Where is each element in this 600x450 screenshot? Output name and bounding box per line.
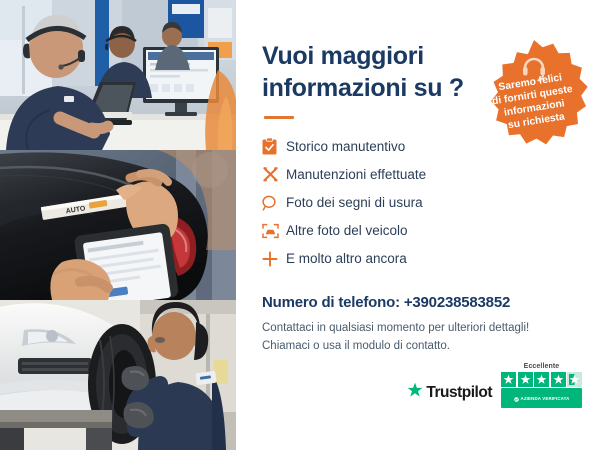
list-item: E molto altro ancora [262,245,580,272]
contact-text: Contattaci in qualsiasi momento per ulte… [262,320,580,356]
phone-number-line[interactable]: Numero di telefono: +390238583852 [262,294,580,311]
clipboard-check-icon [262,137,286,157]
feature-label: Altre foto del veicolo [286,224,408,238]
feature-label: Storico manutentivo [286,140,405,154]
list-item: Altre foto del veicolo [262,217,580,244]
feature-label: Manutenzioni effettuate [286,168,426,182]
page-title: Vuoi maggiori informazioni su ? [262,40,477,104]
call-center-agents-photo [0,0,236,150]
star-icon [534,372,549,387]
trustpilot-star-icon [407,382,423,403]
star-icon [501,372,516,387]
contact-line-2: Chiamaci o usa il modulo di contatto. [262,340,450,352]
photo-column: AUTO [0,0,236,450]
headline-line-1: Vuoi maggiori [262,42,424,70]
trustpilot-name: Trustpilot [426,384,492,402]
star-rating [501,372,582,387]
headline-line-2: informazioni su ? [262,74,464,102]
magnifier-icon [262,193,286,213]
callout-badge: Saremo felici di fornirti queste informa… [476,38,592,154]
feature-label: E molto altro ancora [286,252,407,266]
trustpilot-logo: Trustpilot [407,382,492,408]
rating-label: Eccellente [524,363,560,370]
promo-banner: AUTO [0,0,600,450]
verified-company-badge: AZIENDA VERIFICATA [501,388,582,408]
content-column: Vuoi maggiori informazioni su ? Storico … [236,0,600,450]
list-item: Foto dei segni di usura [262,189,580,216]
headline-divider [264,116,294,119]
check-circle-icon [514,389,519,407]
trustpilot-widget[interactable]: Trustpilot Eccellente [262,363,582,408]
star-icon-half [567,372,582,387]
car-frame-icon [262,221,286,241]
tools-cross-icon [262,165,286,185]
paint-thickness-inspection-photo: AUTO [0,150,236,300]
feature-label: Foto dei segni di usura [286,196,423,210]
verified-label: AZIENDA VERIFICATA [521,396,570,401]
tire-inspection-photo [0,300,236,450]
phone-block: Numero di telefono: +390238583852 Contat… [262,294,580,356]
star-icon [518,372,533,387]
star-icon [551,372,566,387]
contact-line-1: Contattaci in qualsiasi momento per ulte… [262,322,529,334]
list-item: Manutenzioni effettuate [262,161,580,188]
plus-icon [262,249,286,269]
trustpilot-rating: Eccellente [501,363,582,408]
